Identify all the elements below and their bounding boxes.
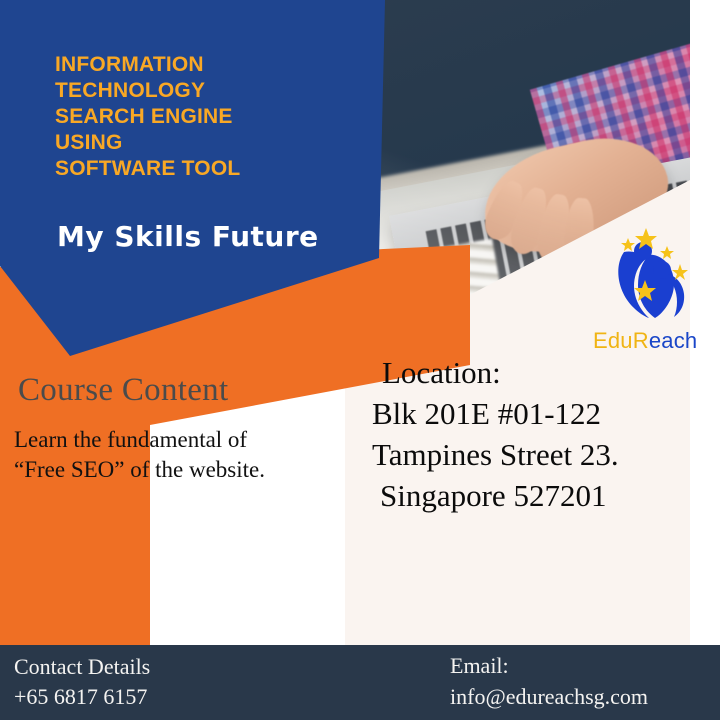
logo-word-r: R [633, 328, 649, 353]
location-line: Singapore 527201 [372, 475, 702, 516]
course-content-title: Course Content [18, 372, 228, 409]
headline-line: SEARCH ENGINE [55, 104, 355, 130]
poster-canvas: INFORMATION TECHNOLOGY SEARCH ENGINE USI… [0, 0, 720, 720]
right-white-margin [690, 0, 720, 645]
contact-details-block: Contact Details +65 6817 6157 [14, 652, 150, 712]
phone-number[interactable]: +65 6817 6157 [14, 682, 150, 712]
course-content-body: Learn the fundamental of “Free SEO” of t… [14, 425, 344, 485]
tagline: My Skills Future [57, 220, 319, 253]
logo-wordmark: EduReach [593, 328, 697, 354]
email-address[interactable]: info@edureachsg.com [450, 681, 648, 712]
email-block: Email: info@edureachsg.com [450, 650, 648, 712]
headline-line: SOFTWARE TOOL [55, 156, 355, 182]
logo-word-edu: Edu [593, 328, 633, 353]
course-body-line: “Free SEO” of the website. [14, 455, 344, 485]
course-body-line: Learn the fundamental of [14, 425, 344, 455]
page-title: INFORMATION TECHNOLOGY SEARCH ENGINE USI… [55, 52, 355, 182]
logo-word-each: each [649, 328, 698, 353]
location-block: Location: Blk 201E #01-122 Tampines Stre… [372, 352, 702, 516]
location-line: Blk 201E #01-122 [372, 393, 702, 434]
headline-line: INFORMATION [55, 52, 355, 78]
email-label: Email: [450, 650, 648, 681]
location-label: Location: [372, 352, 702, 393]
location-line: Tampines Street 23. [372, 434, 702, 475]
edureach-people-stars-logo [600, 222, 692, 322]
headline-line: TECHNOLOGY [55, 78, 355, 104]
headline-line: USING [55, 130, 355, 156]
contact-details-label: Contact Details [14, 652, 150, 682]
